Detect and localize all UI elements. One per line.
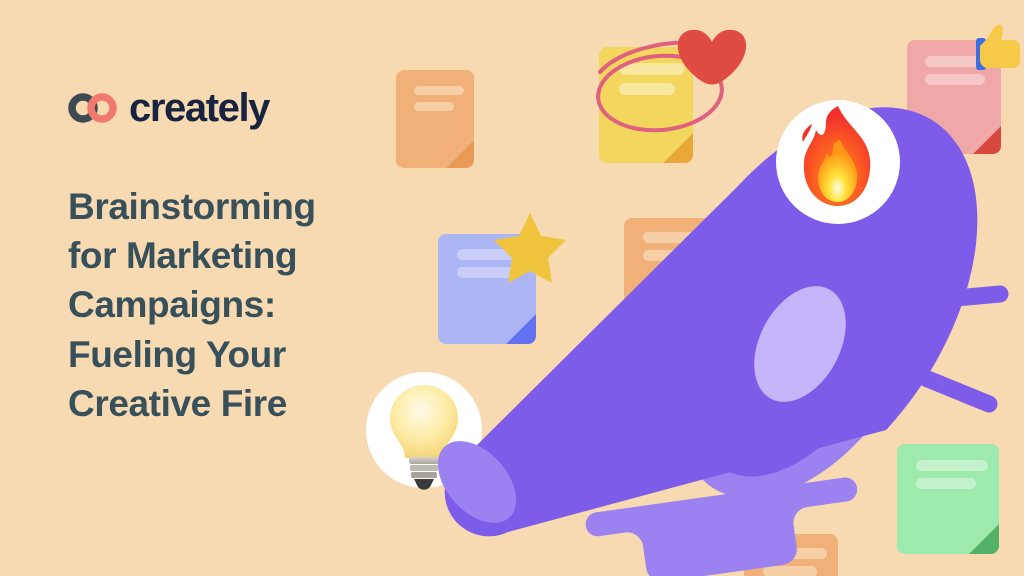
- sticky-note-green-bottom-right: [897, 444, 999, 554]
- creately-wordmark: creately: [129, 88, 269, 128]
- creately-rings-logo-icon: [68, 93, 118, 123]
- fire-emoji-badge: [776, 100, 900, 224]
- sticky-note-orange-top-left: [396, 70, 474, 168]
- sticky-note-yellow-heart: [599, 47, 693, 163]
- creately-logo[interactable]: creately: [68, 88, 269, 128]
- thumbs-up-icon: [976, 25, 1020, 70]
- page-title: Brainstorming for Marketing Campaigns: F…: [68, 182, 398, 428]
- cover-canvas: creately Brainstorming for Marketing Cam…: [0, 0, 1024, 576]
